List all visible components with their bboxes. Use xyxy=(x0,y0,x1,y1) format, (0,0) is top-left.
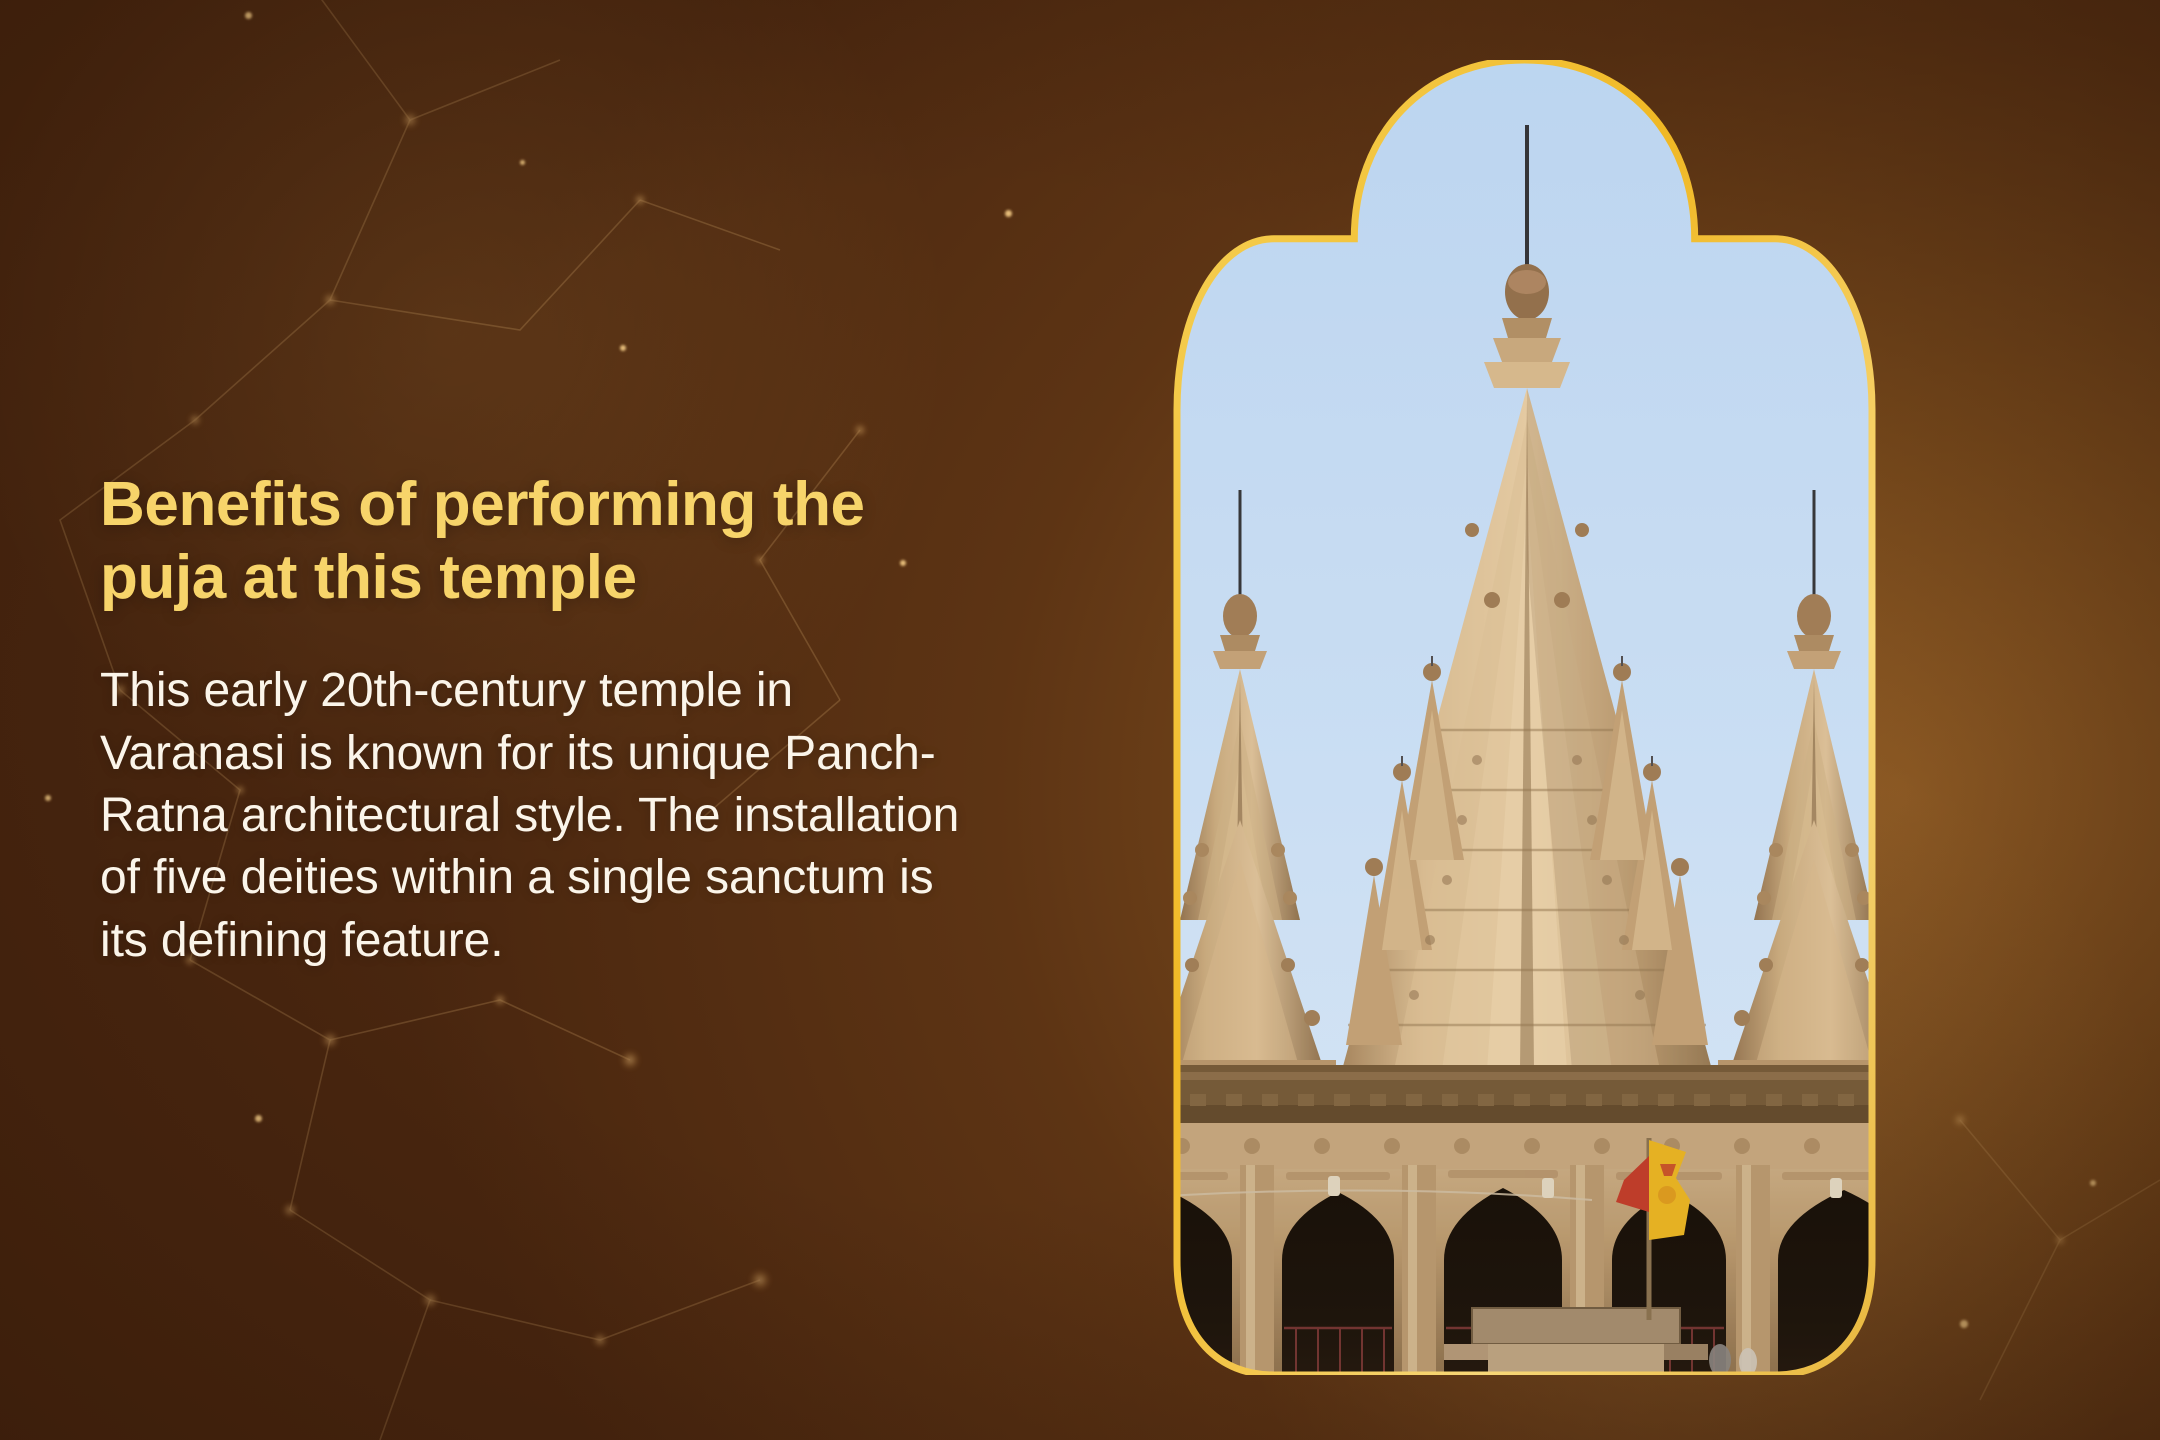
temple-photo xyxy=(1072,60,1977,1375)
image-column xyxy=(1060,0,2160,1440)
body-paragraph: This early 20th-century temple in Varana… xyxy=(100,660,990,972)
cusped-arch-frame xyxy=(1072,60,1977,1375)
text-column: Benefits of performing the puja at this … xyxy=(0,0,1060,1440)
slide-root: Benefits of performing the puja at this … xyxy=(0,0,2160,1440)
page-title: Benefits of performing the puja at this … xyxy=(100,468,990,614)
photo-frame xyxy=(1072,60,1977,1375)
